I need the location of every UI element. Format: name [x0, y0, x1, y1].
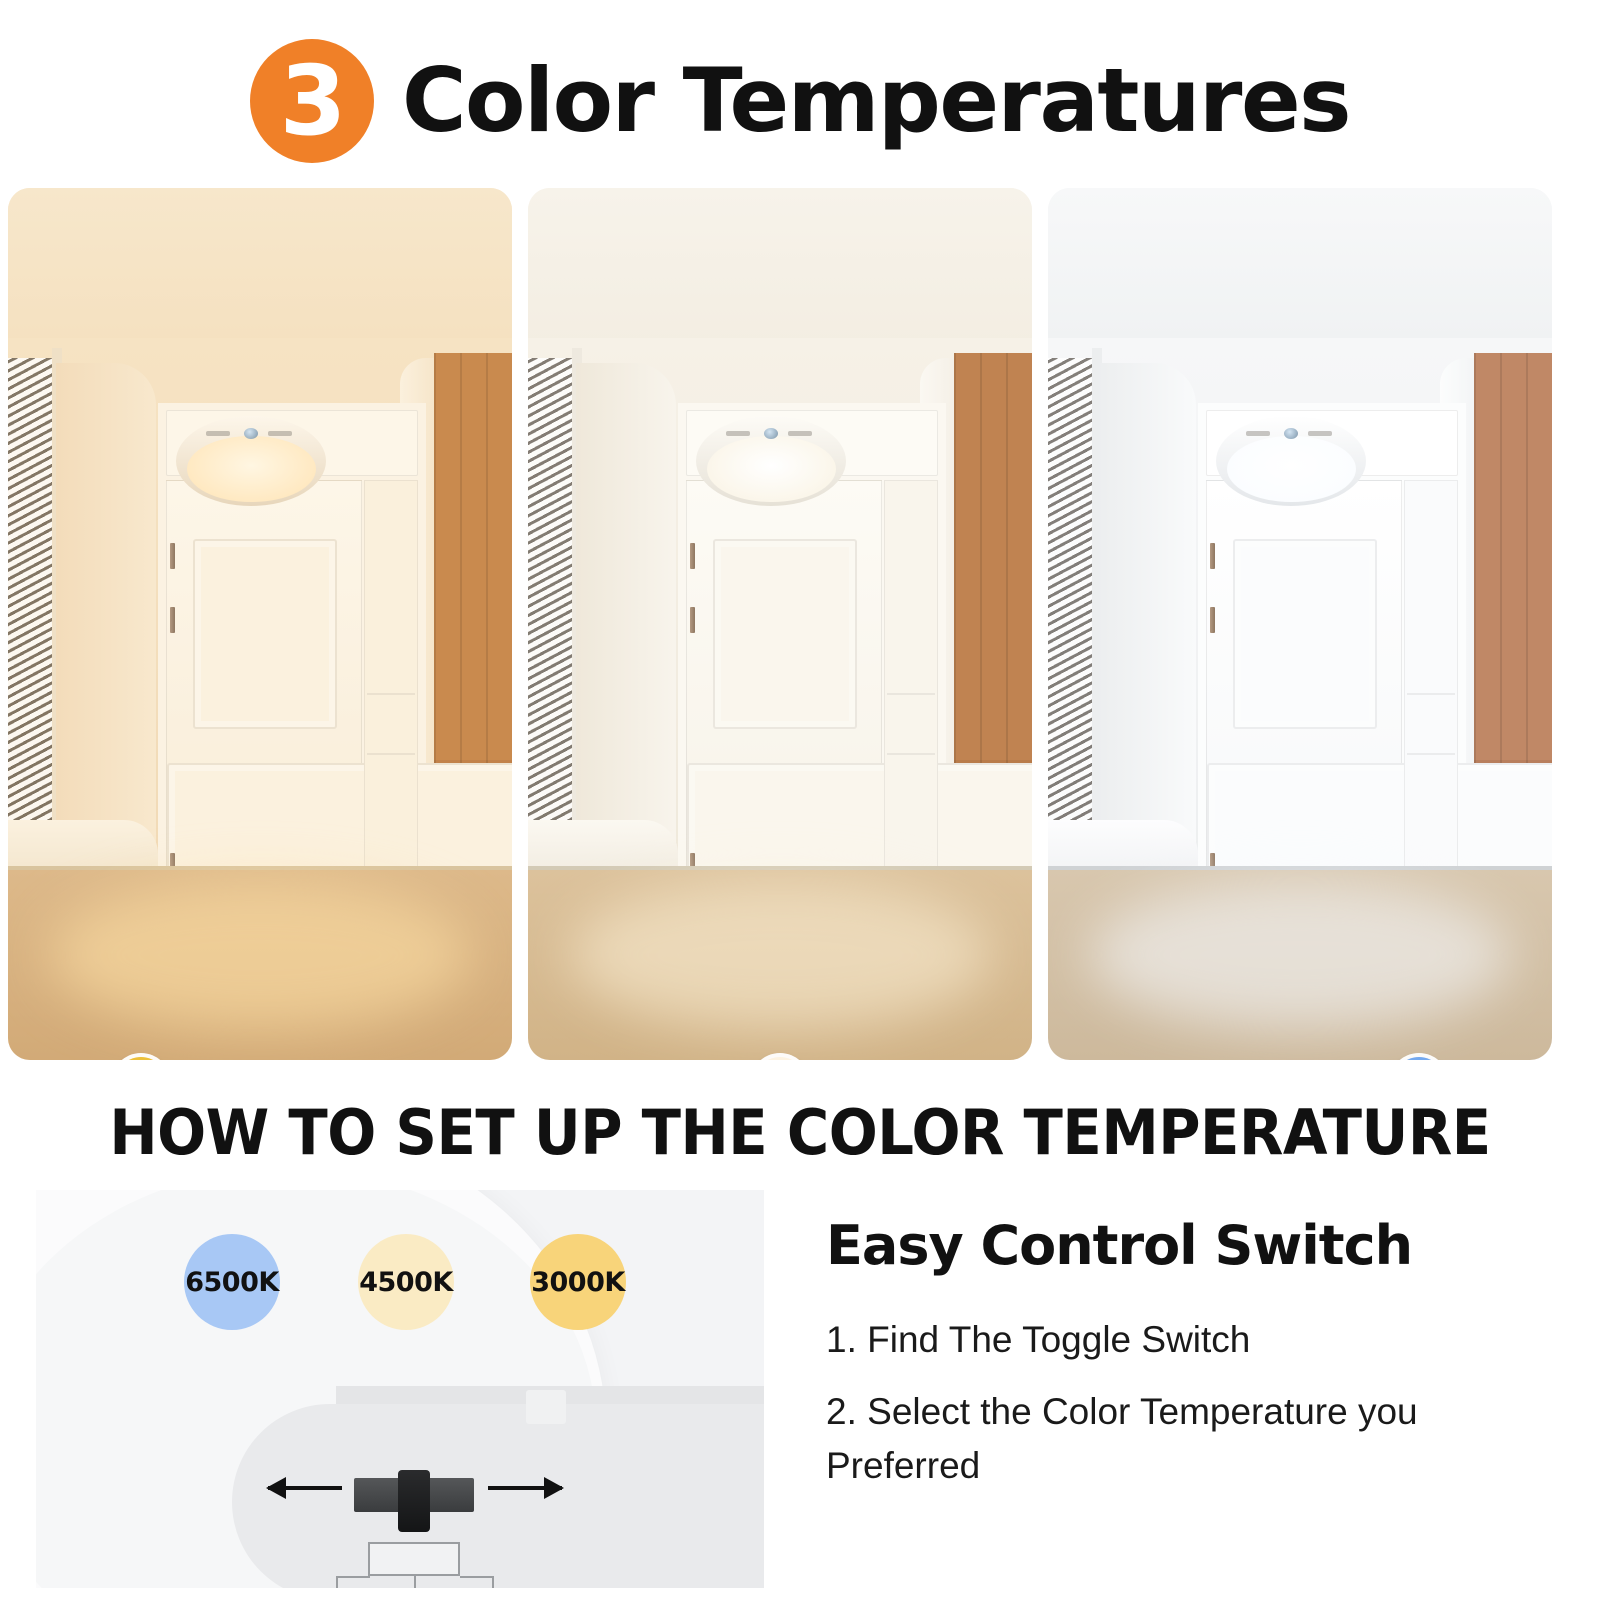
door-hinge-middle: [1210, 607, 1215, 633]
setup-section-heading: HOW TO SET UP THE COLOR TEMPERATURE: [56, 1096, 1544, 1169]
floor-light-pool: [568, 880, 991, 1030]
lamp-diffuser: [707, 436, 836, 503]
lamp-sensor-icon: [244, 428, 258, 439]
ct-circle-6500k: 6500K: [184, 1234, 280, 1330]
door-hinge-top: [690, 543, 695, 569]
door-panel-top: [193, 539, 337, 729]
instruction-step-1: 1. Find The Toggle Switch: [826, 1313, 1546, 1367]
room-scene-cool: [1048, 188, 1552, 1060]
toggle-switch-lever[interactable]: [398, 1470, 430, 1532]
lamp-diffuser: [1227, 436, 1356, 503]
ct-circle-3000k: 3000K: [530, 1234, 626, 1330]
lamp-label-left: [726, 431, 750, 436]
lamp-diffuser: [187, 436, 316, 503]
arrow-left-icon: [268, 1486, 342, 1490]
panel-4000k: 4000K Neutral whte: [528, 188, 1032, 1060]
lamp-label-right: [788, 431, 812, 436]
lamp-sensor-icon: [764, 428, 778, 439]
ct-circle-label: 3000K: [531, 1267, 625, 1298]
switch-diagram: 6500K 4500K 3000K: [36, 1190, 764, 1588]
switch-schematic-box: [368, 1542, 460, 1576]
door-panel-top: [713, 539, 857, 729]
ct-circle-4500k: 4500K: [358, 1234, 454, 1330]
door-hinge-top: [170, 543, 175, 569]
ceiling-lamp: [696, 416, 846, 506]
lamp-sensor-icon: [1284, 428, 1298, 439]
panel-3000k: 3000K Warm White: [8, 188, 512, 1060]
ct-circle-label: 4500K: [359, 1267, 453, 1298]
floor-light-pool: [48, 880, 471, 1030]
badge-number: 3: [280, 53, 345, 149]
setup-section: 6500K 4500K 3000K: [0, 1190, 1600, 1600]
ceiling-lamp: [1216, 416, 1366, 506]
page-header: 3 Color Temperatures: [0, 28, 1600, 173]
fixture-housing: [232, 1404, 764, 1588]
arrow-right-icon: [488, 1486, 562, 1490]
room-scene-warm: [8, 188, 512, 1060]
instructions-column: Easy Control Switch 1. Find The Toggle S…: [826, 1216, 1566, 1510]
room-scene-neutral: [528, 188, 1032, 1060]
floor-light-pool: [1088, 880, 1511, 1030]
switch-schematic-lines: [336, 1576, 496, 1588]
door-hinge-middle: [170, 607, 175, 633]
lamp-label-right: [1308, 431, 1332, 436]
door-hinge-top: [1210, 543, 1215, 569]
page-title: Color Temperatures: [402, 57, 1350, 145]
lamp-label-right: [268, 431, 292, 436]
fixture-housing-tab: [526, 1390, 566, 1424]
count-badge: 3: [250, 39, 374, 163]
ct-circle-label: 6500K: [185, 1267, 279, 1298]
toggle-switch[interactable]: [354, 1468, 474, 1538]
lamp-label-left: [1246, 431, 1270, 436]
color-temperature-panels: 3000K Warm White: [8, 188, 1592, 1060]
infographic-page: 3 Color Temperatures: [0, 0, 1600, 1600]
ceiling-lamp: [176, 416, 326, 506]
instructions-title: Easy Control Switch: [826, 1216, 1566, 1275]
door-panel-top: [1233, 539, 1377, 729]
panel-6500k: 6500K Cool white: [1048, 188, 1552, 1060]
instruction-step-2: 2. Select the Color Temperature you Pref…: [826, 1385, 1546, 1492]
lamp-label-left: [206, 431, 230, 436]
door-hinge-middle: [690, 607, 695, 633]
